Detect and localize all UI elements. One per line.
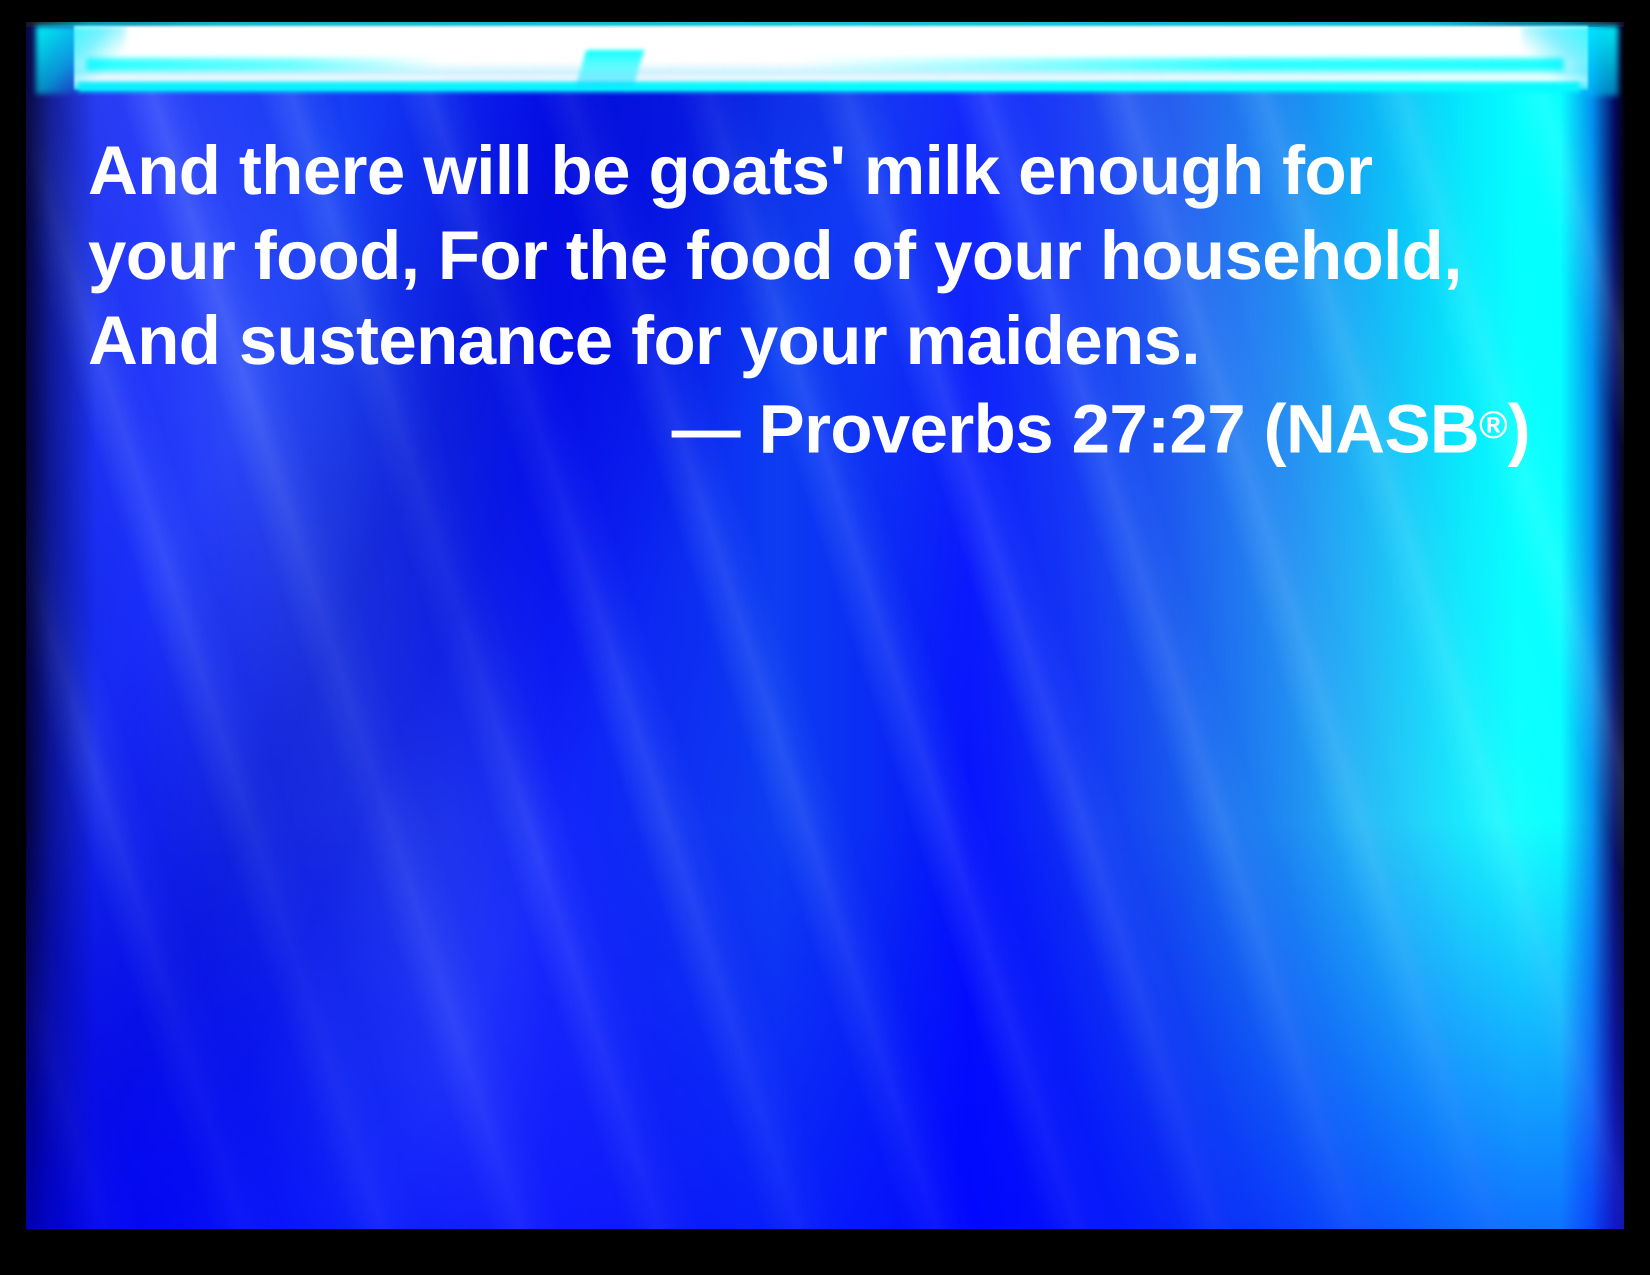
glow-cyan-streak: [86, 58, 1564, 71]
slide-frame: And there will be goats' milk enough for…: [0, 0, 1650, 1275]
verse-line-1: And there will be goats' milk enough for: [88, 128, 1538, 213]
verse-citation: — Proverbs 27:27 (NASB®): [88, 383, 1538, 472]
citation-translation-close: ): [1508, 391, 1530, 468]
slide-canvas: And there will be goats' milk enough for…: [26, 22, 1624, 1229]
verse-line-2: your food, For the food of your househol…: [88, 213, 1538, 298]
glow-cyan-notch: [576, 50, 644, 86]
citation-reference: 27:27: [1072, 391, 1245, 468]
citation-spacer-3: [1245, 391, 1264, 468]
citation-dash: —: [672, 391, 740, 468]
registered-trademark-icon: ®: [1479, 404, 1507, 447]
glow-right-corner: [1522, 26, 1618, 96]
verse-text-block: And there will be goats' milk enough for…: [88, 128, 1538, 472]
citation-book: Proverbs: [759, 391, 1053, 468]
verse-line-3: And sustenance for your maidens.: [88, 298, 1538, 383]
citation-spacer-1: [740, 391, 759, 468]
citation-spacer-2: [1053, 391, 1072, 468]
glow-cyan-underline: [78, 82, 1580, 92]
top-glow-band: [26, 22, 1624, 94]
glow-left-corner: [36, 26, 126, 94]
background-bottom-fill: [26, 819, 1624, 1229]
citation-translation-open: (NASB: [1264, 391, 1480, 468]
